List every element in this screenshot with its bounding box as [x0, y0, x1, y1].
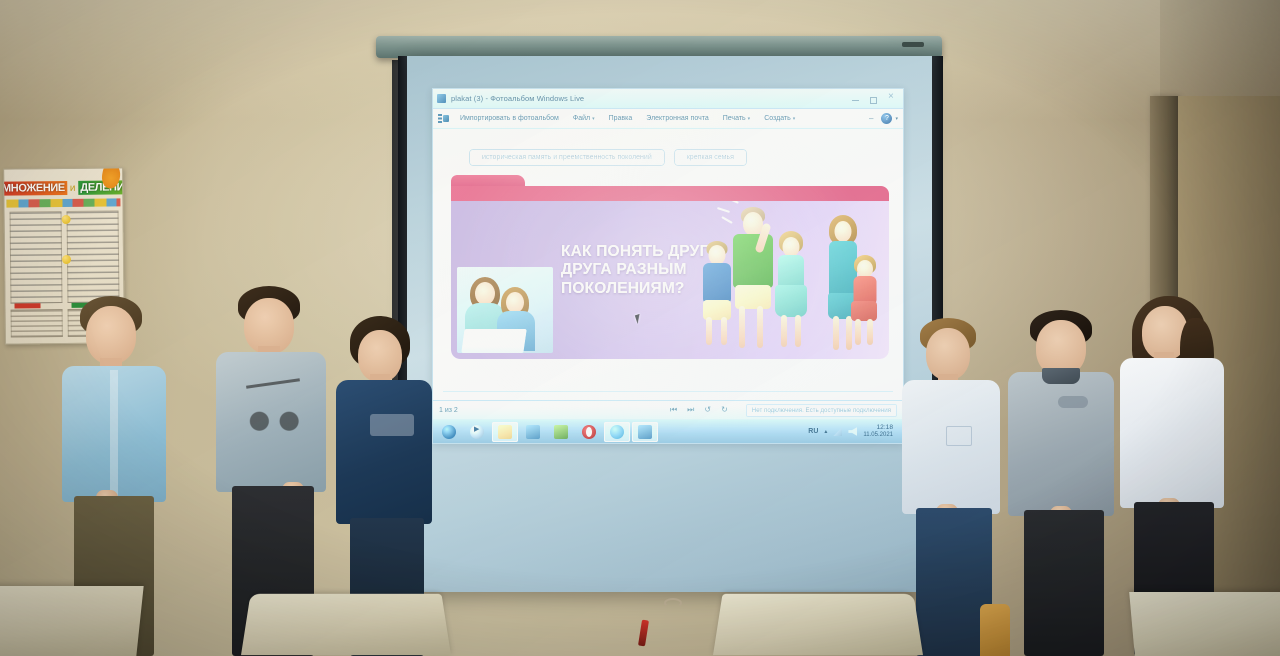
page-counter: 1 из 2 [439, 407, 458, 414]
import-to-gallery-button[interactable]: Импортировать в фотоальбом [453, 113, 566, 124]
child4-shirt-pocket [946, 426, 972, 446]
poster-tag-left [14, 303, 40, 308]
poster-table-left [10, 211, 63, 304]
child5-collar [1042, 368, 1080, 384]
tag-historical-memory: историческая память и преемственность по… [469, 149, 665, 166]
opera-icon [582, 425, 596, 439]
poster-word-multiplication: УМНОЖЕНИЕ [3, 181, 67, 196]
photo-gallery-button[interactable] [520, 422, 546, 442]
help-icon[interactable]: ? [881, 113, 892, 124]
volume-icon[interactable] [848, 427, 857, 436]
recycle-button[interactable] [632, 422, 658, 442]
daughter-head [506, 292, 524, 313]
projector-screen-roller [376, 36, 942, 58]
chevron-down-icon[interactable]: ▾ [895, 116, 898, 122]
photo-running-family [695, 201, 885, 359]
tag-strong-family: крепкая семья [674, 149, 747, 166]
laptop [461, 329, 526, 353]
mouse-cursor [635, 313, 645, 324]
little-girl-leg-right [867, 319, 873, 345]
child5-chest-logo [1058, 396, 1088, 408]
system-tray[interactable]: RU ▴ 12:18 11.05.2021 [808, 425, 900, 438]
window-toolbar[interactable]: Импортировать в фотоальбом Файл▾ Правка … [433, 109, 903, 129]
chevron-down-icon: ▾ [592, 116, 595, 122]
window-controls[interactable] [850, 94, 899, 103]
mother-head [835, 221, 852, 242]
content-divider [443, 391, 893, 392]
boy-head [709, 245, 726, 265]
child6-sweater [1120, 358, 1224, 508]
chair-back [980, 604, 1010, 656]
windows-taskbar[interactable]: RU ▴ 12:18 11.05.2021 [433, 419, 903, 443]
girl-top [778, 255, 804, 289]
menu-file-label: Файл [573, 115, 590, 122]
slide-image: историческая память и преемственность по… [443, 153, 893, 385]
rotate-left-icon[interactable]: ↺ [704, 406, 711, 414]
minimize-icon[interactable] [850, 94, 861, 103]
chevron-down-icon: ▾ [793, 116, 796, 122]
paint-icon [554, 425, 568, 439]
menu-print-label: Печать [723, 115, 746, 122]
child3-jacket-logo [370, 414, 414, 436]
navigation-controls[interactable]: ⏮ ⏭ ↺ ↻ Нет подключения. Есть доступные … [670, 404, 897, 417]
desk-right [1129, 592, 1280, 656]
media-player-button[interactable] [464, 422, 490, 442]
poster-conjunction: и [70, 182, 76, 193]
chevron-down-icon: ▾ [748, 116, 751, 122]
show-hidden-icons-icon[interactable]: ▴ [824, 428, 827, 435]
pen-on-desk [638, 620, 649, 647]
child5-polo [1008, 372, 1114, 516]
father-leg-right [757, 306, 763, 348]
mother-head [475, 282, 495, 305]
father-shirt [733, 234, 773, 288]
photo-gallery-icon [437, 94, 446, 103]
rotate-right-icon[interactable]: ↻ [721, 406, 728, 414]
media-player-icon [470, 425, 484, 439]
menu-edit[interactable]: Правка [602, 113, 640, 124]
menu-email[interactable]: Электронная почта [639, 113, 715, 124]
menu-create[interactable]: Создать▾ [757, 113, 802, 124]
menu-file[interactable]: Файл▾ [566, 113, 602, 124]
little-girl-skirt [851, 301, 877, 321]
menu-print[interactable]: Печать▾ [716, 113, 757, 124]
girl-leg-left [781, 315, 787, 347]
girl-dress [775, 285, 807, 317]
close-icon[interactable] [886, 94, 897, 103]
child-gray-polo [1004, 310, 1122, 656]
boy-leg-left [706, 317, 712, 345]
banner-body: КАК ПОНЯТЬ ДРУГ ДРУГА РАЗНЫМ ПОКОЛЕНИЯМ? [451, 201, 889, 359]
little-girl-leg-left [855, 319, 861, 345]
photo-canvas[interactable]: историческая память и преемственность по… [433, 129, 903, 400]
child1-shirt-placket [110, 370, 118, 500]
poster-dot-upper [62, 215, 71, 224]
opera-button[interactable] [576, 422, 602, 442]
poster-dot-lower [62, 255, 71, 264]
child3-jacket [336, 380, 432, 524]
toolbar-dash: – [861, 114, 881, 123]
little-girl-top [854, 276, 877, 304]
poster-color-band [6, 198, 120, 207]
clock-date: 11.05.2021 [863, 432, 893, 438]
network-status-tooltip: Нет подключения. Есть доступные подключе… [746, 404, 897, 417]
maximize-icon[interactable] [868, 94, 879, 103]
explorer-button[interactable] [492, 422, 518, 442]
network-icon[interactable] [833, 427, 842, 436]
family-little-girl [845, 253, 885, 349]
mother-leg-left [833, 316, 839, 350]
child4-head [926, 328, 970, 380]
girl-head [783, 237, 800, 257]
previous-icon[interactable]: ⏮ [670, 406, 677, 414]
skype-button[interactable] [604, 422, 630, 442]
language-indicator[interactable]: RU [808, 428, 818, 435]
classroom-room: УМНОЖЕНИЕ и ДЕЛЕНИЕ plakat (3) - Фотоаль… [0, 0, 1280, 656]
import-icon [438, 113, 449, 124]
recycle-icon [638, 425, 652, 439]
child1-head [86, 306, 136, 364]
window-titlebar[interactable]: plakat (3) - Фотоальбом Windows Live [433, 89, 903, 109]
girl-leg-right [795, 315, 801, 347]
wire-loop-on-desk [664, 598, 682, 608]
clock-time: 12:18 [863, 425, 893, 432]
menu-create-label: Создать [764, 115, 791, 122]
desk-left [0, 586, 144, 656]
projected-desktop: plakat (3) - Фотоальбом Windows Live Имп… [432, 88, 904, 444]
next-icon[interactable]: ⏭ [687, 406, 694, 414]
child5-trousers [1024, 510, 1104, 656]
folder-explorer-icon [498, 425, 512, 439]
start-orb-icon [442, 425, 456, 439]
roller-knob [902, 42, 924, 47]
projector-screen: plakat (3) - Фотоальбом Windows Live Имп… [407, 56, 932, 592]
family-girl-mint [769, 229, 813, 351]
father-leg-left [739, 306, 745, 348]
photo-mother-and-daughter [457, 267, 553, 353]
paint-button[interactable] [548, 422, 574, 442]
poster-table-right [67, 210, 120, 303]
taskbar-clock[interactable]: 12:18 11.05.2021 [863, 425, 896, 438]
skype-icon [610, 425, 624, 439]
photo-gallery-window[interactable]: plakat (3) - Фотоальбом Windows Live Имп… [432, 88, 904, 444]
window-title: plakat (3) - Фотоальбом Windows Live [451, 94, 584, 103]
desk-center-left [241, 594, 451, 655]
desk-center-right [713, 594, 923, 655]
slide-tag-row: историческая память и преемственность по… [469, 149, 747, 166]
child4-shirt [902, 380, 1000, 514]
slide-banner: КАК ПОНЯТЬ ДРУГ ДРУГА РАЗНЫМ ПОКОЛЕНИЯМ? [451, 175, 889, 371]
photo-gallery-icon [526, 425, 540, 439]
window-statusbar: 1 из 2 ⏮ ⏭ ↺ ↻ Нет подключения. Есть дос… [433, 400, 903, 419]
